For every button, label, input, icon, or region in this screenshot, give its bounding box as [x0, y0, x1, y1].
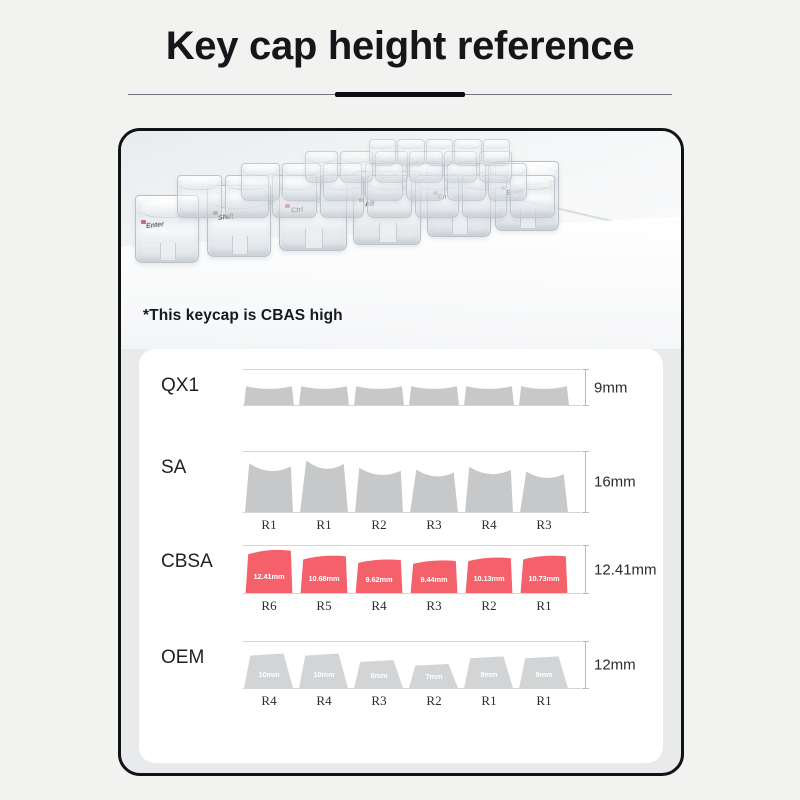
keycap-silhouette — [353, 464, 405, 512]
keycap-silhouette — [408, 381, 460, 405]
keycap-silhouette: 10mm — [243, 652, 295, 688]
keycap-height-value: 9.62mm — [353, 575, 405, 584]
page-root: Key cap height reference EnterShiftCtrlA… — [0, 0, 800, 800]
keycap-height-value: 9mm — [463, 670, 515, 679]
row-code-label: R5 — [298, 598, 350, 614]
dimension-tick — [582, 512, 589, 513]
dimension-tick — [582, 593, 589, 594]
photo-keycap-stem — [452, 216, 469, 234]
row-code-label: R1 — [518, 693, 570, 709]
profile-frame — [243, 451, 581, 513]
dimension-line — [585, 451, 586, 513]
dimension-line — [585, 545, 586, 594]
keycap-silhouette: 10mm — [298, 652, 350, 688]
photo-keycap-stem — [160, 243, 177, 260]
content-panel: EnterShiftCtrlAltFnEnter *This keycap is… — [118, 128, 684, 776]
photo-keycap — [369, 139, 396, 166]
row-code-group: R4R4R3R2R1R1 — [243, 693, 581, 711]
total-height-label: 9mm — [594, 379, 627, 396]
photo-keycap-top — [372, 141, 393, 148]
keycap-silhouette — [518, 468, 570, 512]
profile-name-label: SA — [161, 457, 239, 479]
dimension-tick — [582, 641, 589, 642]
row-code-label: R1 — [518, 598, 570, 614]
photo-keycap-top — [400, 141, 421, 148]
photo-keycap-top — [308, 154, 334, 163]
total-height-label: 16mm — [594, 474, 636, 491]
profile-frame: 10mm10mm8mm7mm9mm9mm — [243, 641, 581, 689]
keycap-silhouette: 10.68mm — [298, 554, 350, 593]
dimension-tick — [582, 545, 589, 546]
photo-keycap-top — [429, 141, 450, 148]
photo-keycap-top — [457, 141, 478, 148]
dimension-tick — [582, 369, 589, 370]
profile-name-label: QX1 — [161, 375, 239, 397]
photo-keycap — [305, 151, 338, 183]
photo-keycap — [340, 151, 373, 183]
row-code-group: R6R5R4R3R2R1 — [243, 598, 581, 616]
photo-keycap-stem — [232, 236, 249, 254]
keycap-silhouette: 7mm — [408, 663, 460, 688]
keycap-silhouette: 9.62mm — [353, 558, 405, 593]
profile-name-label: OEM — [161, 647, 239, 669]
keycap-silhouette — [243, 381, 295, 405]
row-code-label: R4 — [353, 598, 405, 614]
photo-keycap — [397, 139, 424, 166]
photo-keycap-stem — [379, 223, 397, 242]
profile-row-sa: SAR1R1R2R3R4R316mm — [139, 451, 663, 551]
photo-keycap-legend: Enter — [146, 221, 164, 230]
keycap-silhouette — [298, 456, 350, 512]
keycap-silhouette: 10.13mm — [463, 556, 515, 593]
keycap-silhouette-group — [243, 370, 581, 405]
keycap-silhouette — [463, 381, 515, 405]
keycap-height-value: 10.68mm — [298, 574, 350, 583]
total-height-label: 12.41mm — [594, 561, 657, 578]
keycap-height-value: 9mm — [518, 670, 570, 679]
profile-name-label: CBSA — [161, 551, 239, 573]
row-code-label: R2 — [463, 598, 515, 614]
photo-keycap-top — [245, 166, 276, 176]
photo-keycap — [426, 139, 453, 166]
row-code-label: R4 — [298, 693, 350, 709]
row-code-label: R2 — [408, 693, 460, 709]
keycap-silhouette-group: 10mm10mm8mm7mm9mm9mm — [243, 642, 581, 688]
keycap-height-value: 8mm — [353, 671, 405, 680]
keycap-height-value: 12.41mm — [243, 572, 295, 581]
title-divider — [128, 92, 672, 97]
keycap-height-value: 10.73mm — [518, 574, 570, 583]
keycap-silhouette: 9mm — [518, 655, 570, 688]
row-code-label: R3 — [408, 517, 460, 533]
dimension-tick — [582, 688, 589, 689]
dimension-line — [585, 641, 586, 689]
row-code-label: R3 — [518, 517, 570, 533]
keycap-silhouette — [518, 381, 570, 405]
dimension-tick — [582, 451, 589, 452]
keycap-silhouette — [353, 381, 405, 405]
keycap-height-value: 10mm — [298, 670, 350, 679]
row-code-label: R1 — [463, 693, 515, 709]
photo-keycap-stem — [305, 229, 323, 248]
dimension-tick — [582, 405, 589, 406]
keycap-silhouette: 10.73mm — [518, 554, 570, 593]
photo-keycap — [454, 139, 481, 166]
profile-row-oem: OEM10mm10mm8mm7mm9mm9mmR4R4R3R2R1R112mm — [139, 641, 663, 741]
photo-keycap-top — [181, 178, 217, 190]
row-code-label: R2 — [353, 517, 405, 533]
keycap-silhouette — [408, 466, 460, 512]
photo-keycap — [177, 175, 222, 218]
row-code-group: R1R1R2R3R4R3 — [243, 517, 581, 535]
profile-frame — [243, 369, 581, 406]
keycap-silhouette — [298, 381, 350, 405]
row-code-label: R6 — [243, 598, 295, 614]
keycap-height-value: 9.44mm — [408, 575, 460, 584]
row-code-label: R3 — [353, 693, 405, 709]
photo-keycap-accent — [141, 220, 146, 224]
keycap-height-value: 10.13mm — [463, 574, 515, 583]
photo-keycap — [483, 139, 510, 166]
dimension-line — [585, 369, 586, 406]
photo-keycap — [241, 163, 280, 201]
profile-frame: 12.41mm10.68mm9.62mm9.44mm10.13mm10.73mm — [243, 545, 581, 594]
keycap-silhouette — [463, 463, 515, 512]
keycap-silhouette: 9mm — [463, 655, 515, 688]
page-title: Key cap height reference — [0, 24, 800, 68]
row-code-label: R3 — [408, 598, 460, 614]
divider-accent-bar — [335, 92, 465, 97]
profile-row-cbsa: CBSA12.41mm10.68mm9.62mm9.44mm10.13mm10.… — [139, 545, 663, 645]
keycap-silhouette — [243, 459, 295, 512]
profile-note: *This keycap is CBAS high — [143, 307, 343, 325]
height-chart-card: QX19mmSAR1R1R2R3R4R316mmCBSA12.41mm10.68… — [139, 349, 663, 763]
row-code-label: R1 — [243, 517, 295, 533]
keycap-height-value: 10mm — [243, 670, 295, 679]
row-code-label: R4 — [463, 517, 515, 533]
photo-keycap-top — [486, 141, 507, 148]
row-code-label: R1 — [298, 517, 350, 533]
photo-keycap-top — [343, 154, 369, 163]
keycap-silhouette-group — [243, 452, 581, 512]
keycap-height-value: 7mm — [408, 672, 460, 681]
keycap-silhouette: 12.41mm — [243, 548, 295, 593]
keycap-silhouette-group: 12.41mm10.68mm9.62mm9.44mm10.13mm10.73mm — [243, 546, 581, 593]
total-height-label: 12mm — [594, 657, 636, 674]
keycap-silhouette: 9.44mm — [408, 559, 460, 593]
row-code-label: R4 — [243, 693, 295, 709]
keycap-silhouette: 8mm — [353, 659, 405, 688]
